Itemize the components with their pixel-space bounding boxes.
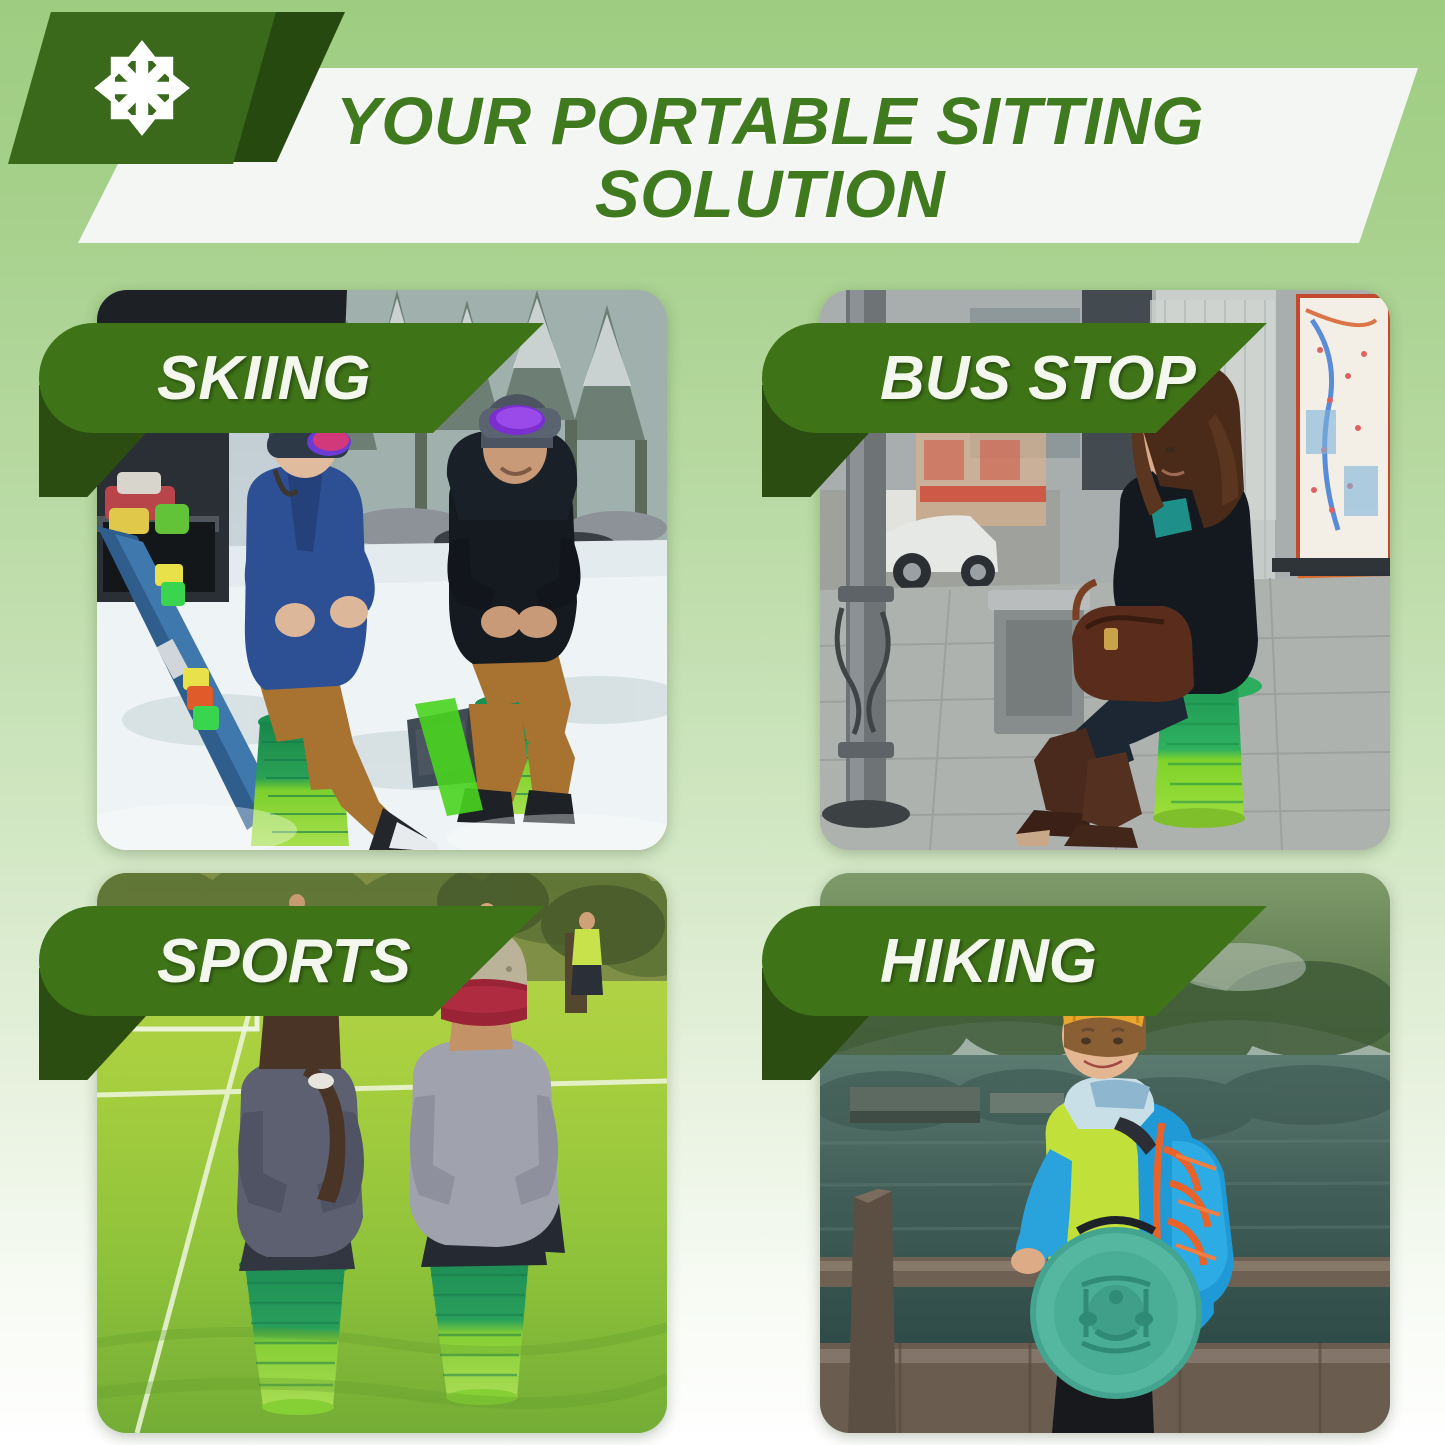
ribbon-label: BUS STOP: [880, 323, 1196, 433]
use-case-card-bus-stop: BUS STOP: [820, 290, 1390, 850]
use-case-card-sports: SPORTS: [97, 873, 667, 1433]
move-arrows-icon: [90, 36, 194, 140]
use-case-card-hiking: HIKING: [820, 873, 1390, 1433]
ribbon-skiing: SKIING: [39, 323, 544, 441]
ribbon-bus-stop: BUS STOP: [762, 323, 1267, 441]
page-title-line-1: YOUR PORTABLE SITTING: [336, 88, 1204, 155]
ribbon-label: SKIING: [157, 323, 371, 433]
ribbon-label: HIKING: [880, 906, 1097, 1016]
ribbon-label: SPORTS: [157, 906, 411, 1016]
use-case-grid: SKIING: [0, 278, 1445, 1445]
ribbon-hiking: HIKING: [762, 906, 1267, 1024]
page-title: YOUR PORTABLE SITTING SOLUTION: [200, 78, 1340, 238]
header: YOUR PORTABLE SITTING SOLUTION: [0, 0, 1445, 250]
page-title-line-2: SOLUTION: [595, 161, 945, 228]
use-case-card-skiing: SKIING: [97, 290, 667, 850]
infographic-canvas: YOUR PORTABLE SITTING SOLUTION: [0, 0, 1445, 1445]
ribbon-sports: SPORTS: [39, 906, 544, 1024]
